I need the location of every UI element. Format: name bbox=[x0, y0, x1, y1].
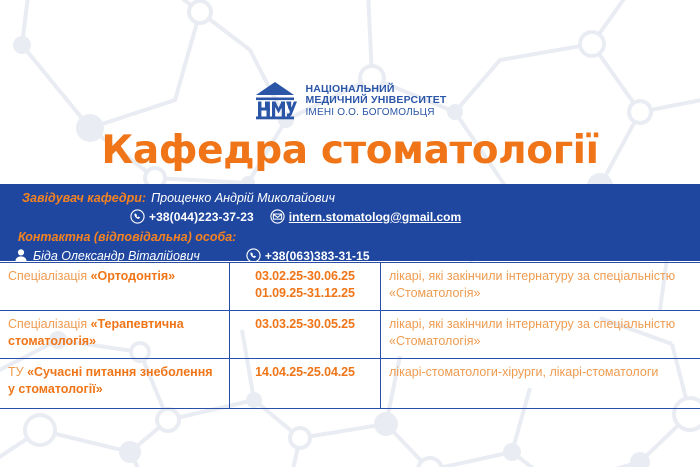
head-phone-number[interactable]: +38(044)223-37-23 bbox=[149, 210, 254, 224]
course-name-cell: Спеціалізація «Терапевтична стоматологія… bbox=[0, 311, 230, 359]
audience-line: лікарі-стоматологи-хірурги, лікарі-стома… bbox=[389, 364, 692, 381]
date-range-secondary: 01.09.25-31.12.25 bbox=[238, 285, 372, 302]
page-title: Кафедра стоматології bbox=[0, 128, 700, 173]
course-dates-cell: 03.02.25-30.06.25 01.09.25-31.12.25 bbox=[230, 263, 381, 311]
course-audience-cell: лікарі, які закінчили інтернатуру за спе… bbox=[381, 311, 700, 359]
person-icon bbox=[14, 248, 28, 263]
course-name-cell: ТУ «Сучасні питання знеболення у стомато… bbox=[0, 359, 230, 409]
table-row: ТУ «Сучасні питання знеболення у стомато… bbox=[0, 359, 700, 409]
head-of-department-line: Завідувач кафедри: Прощенко Андрій Микол… bbox=[0, 188, 700, 207]
course-title: «Ортодонтія» bbox=[91, 269, 176, 283]
email-icon bbox=[270, 209, 285, 224]
audience-line-secondary: «Стоматологія» bbox=[389, 333, 692, 350]
audience-line: лікарі, які закінчили інтернатуру за спе… bbox=[389, 268, 692, 285]
course-name-cell: Спеціалізація «Ортодонтія» bbox=[0, 263, 230, 311]
nmu-logo-icon bbox=[253, 80, 297, 122]
contact-person-label-line: Контактна (відповідальна) особа: bbox=[0, 227, 700, 246]
head-contact-line: +38(044)223-37-23 intern.stomatolog@gmai… bbox=[0, 207, 700, 226]
audience-line: лікарі, які закінчили інтернатуру за спе… bbox=[389, 316, 692, 333]
course-title: «Сучасні питання знеболення у стоматолог… bbox=[8, 365, 213, 396]
phone-icon-secondary bbox=[246, 248, 261, 263]
course-dates-cell: 03.03.25-30.05.25 bbox=[230, 311, 381, 359]
course-audience-cell: лікарі-стоматологи-хірурги, лікарі-стома… bbox=[381, 359, 700, 409]
course-prefix: Спеціалізація bbox=[8, 269, 91, 283]
phone-icon bbox=[130, 209, 145, 224]
course-prefix: ТУ bbox=[8, 365, 27, 379]
contact-person-name: Біда Олександр Віталійович bbox=[33, 249, 200, 263]
table-row: Спеціалізація «Терапевтична стоматологія… bbox=[0, 311, 700, 359]
date-range: 03.02.25-30.06.25 bbox=[238, 268, 372, 285]
date-range: 14.04.25-25.04.25 bbox=[238, 364, 372, 381]
courses-table: Спеціалізація «Ортодонтія» 03.02.25-30.0… bbox=[0, 262, 700, 409]
university-logo-block: Національний медичний університет імені … bbox=[0, 80, 700, 122]
head-of-department-label: Завідувач кафедри: bbox=[22, 191, 146, 205]
department-email[interactable]: intern.stomatolog@gmail.com bbox=[289, 210, 461, 224]
logo-line-2: медичний університет bbox=[305, 95, 446, 107]
course-audience-cell: лікарі, які закінчили інтернатуру за спе… bbox=[381, 263, 700, 311]
contact-banner: Завідувач кафедри: Прощенко Андрій Микол… bbox=[0, 184, 700, 261]
contact-person-phone[interactable]: +38(063)383-31-15 bbox=[265, 249, 370, 263]
logo-line-3: імені О.О. Богомольця bbox=[305, 107, 446, 118]
university-name: Національний медичний університет імені … bbox=[305, 84, 446, 119]
course-prefix: Спеціалізація bbox=[8, 317, 91, 331]
table-row: Спеціалізація «Ортодонтія» 03.02.25-30.0… bbox=[0, 263, 700, 311]
poster-root: Національний медичний університет імені … bbox=[0, 0, 700, 467]
head-of-department-name: Прощенко Андрій Миколайович bbox=[151, 191, 335, 205]
course-dates-cell: 14.04.25-25.04.25 bbox=[230, 359, 381, 409]
audience-line-secondary: «Стоматологія» bbox=[389, 285, 692, 302]
date-range: 03.03.25-30.05.25 bbox=[238, 316, 372, 333]
contact-person-label: Контактна (відповідальна) особа: bbox=[18, 230, 236, 244]
